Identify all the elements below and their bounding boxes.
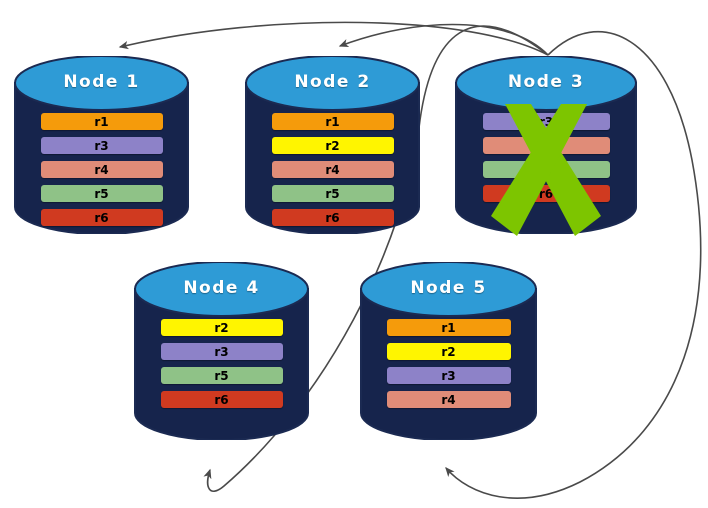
shard-bar[interactable]: r5 (161, 367, 283, 384)
shard-bar[interactable]: r1 (387, 319, 511, 336)
shard-bar[interactable]: r4 (272, 161, 394, 178)
arrow-to-node-1 (120, 22, 548, 55)
node-title: Node 2 (245, 72, 420, 92)
shard-bar[interactable]: r5 (272, 185, 394, 202)
shard-bar[interactable]: r1 (41, 113, 163, 130)
shard-bar[interactable]: r3 (483, 113, 610, 130)
shard-bar[interactable]: r4 (41, 161, 163, 178)
shard-stack: r1r2r3r4 (360, 319, 537, 408)
shard-bar[interactable]: r6 (272, 209, 394, 226)
shard-stack: r1r3r4r5r6 (14, 113, 189, 226)
arrow-to-node-2 (340, 25, 548, 55)
node-title: Node 4 (134, 278, 309, 298)
shard-bar[interactable]: r1 (272, 113, 394, 130)
shard-bar[interactable]: r6 (483, 185, 610, 202)
node-cylinder-2[interactable]: Node 2r1r2r4r5r6 (245, 56, 420, 234)
shard-bar[interactable]: r6 (161, 391, 283, 408)
diagram-canvas: Node 1r1r3r4r5r6Node 2r1r2r4r5r6Node 3r3… (0, 0, 708, 508)
shard-bar[interactable]: r5 (41, 185, 163, 202)
shard-bar[interactable]: r3 (387, 367, 511, 384)
shard-bar[interactable]: r2 (272, 137, 394, 154)
node-title: Node 5 (360, 278, 537, 298)
node-cylinder-1[interactable]: Node 1r1r3r4r5r6 (14, 56, 189, 234)
shard-stack: r3r4r5r6 (455, 113, 637, 202)
shard-stack: r2r3r5r6 (134, 319, 309, 408)
shard-bar[interactable]: r5 (483, 161, 610, 178)
shard-bar[interactable]: r2 (387, 343, 511, 360)
shard-stack: r1r2r4r5r6 (245, 113, 420, 226)
shard-bar[interactable]: r4 (387, 391, 511, 408)
node-title: Node 3 (455, 72, 637, 92)
shard-bar[interactable]: r3 (161, 343, 283, 360)
node-title: Node 1 (14, 72, 189, 92)
node-cylinder-4[interactable]: Node 4r2r3r5r6 (134, 262, 309, 440)
shard-bar[interactable]: r4 (483, 137, 610, 154)
node-cylinder-3[interactable]: Node 3r3r4r5r6 (455, 56, 637, 234)
shard-bar[interactable]: r6 (41, 209, 163, 226)
shard-bar[interactable]: r3 (41, 137, 163, 154)
shard-bar[interactable]: r2 (161, 319, 283, 336)
node-cylinder-5[interactable]: Node 5r1r2r3r4 (360, 262, 537, 440)
